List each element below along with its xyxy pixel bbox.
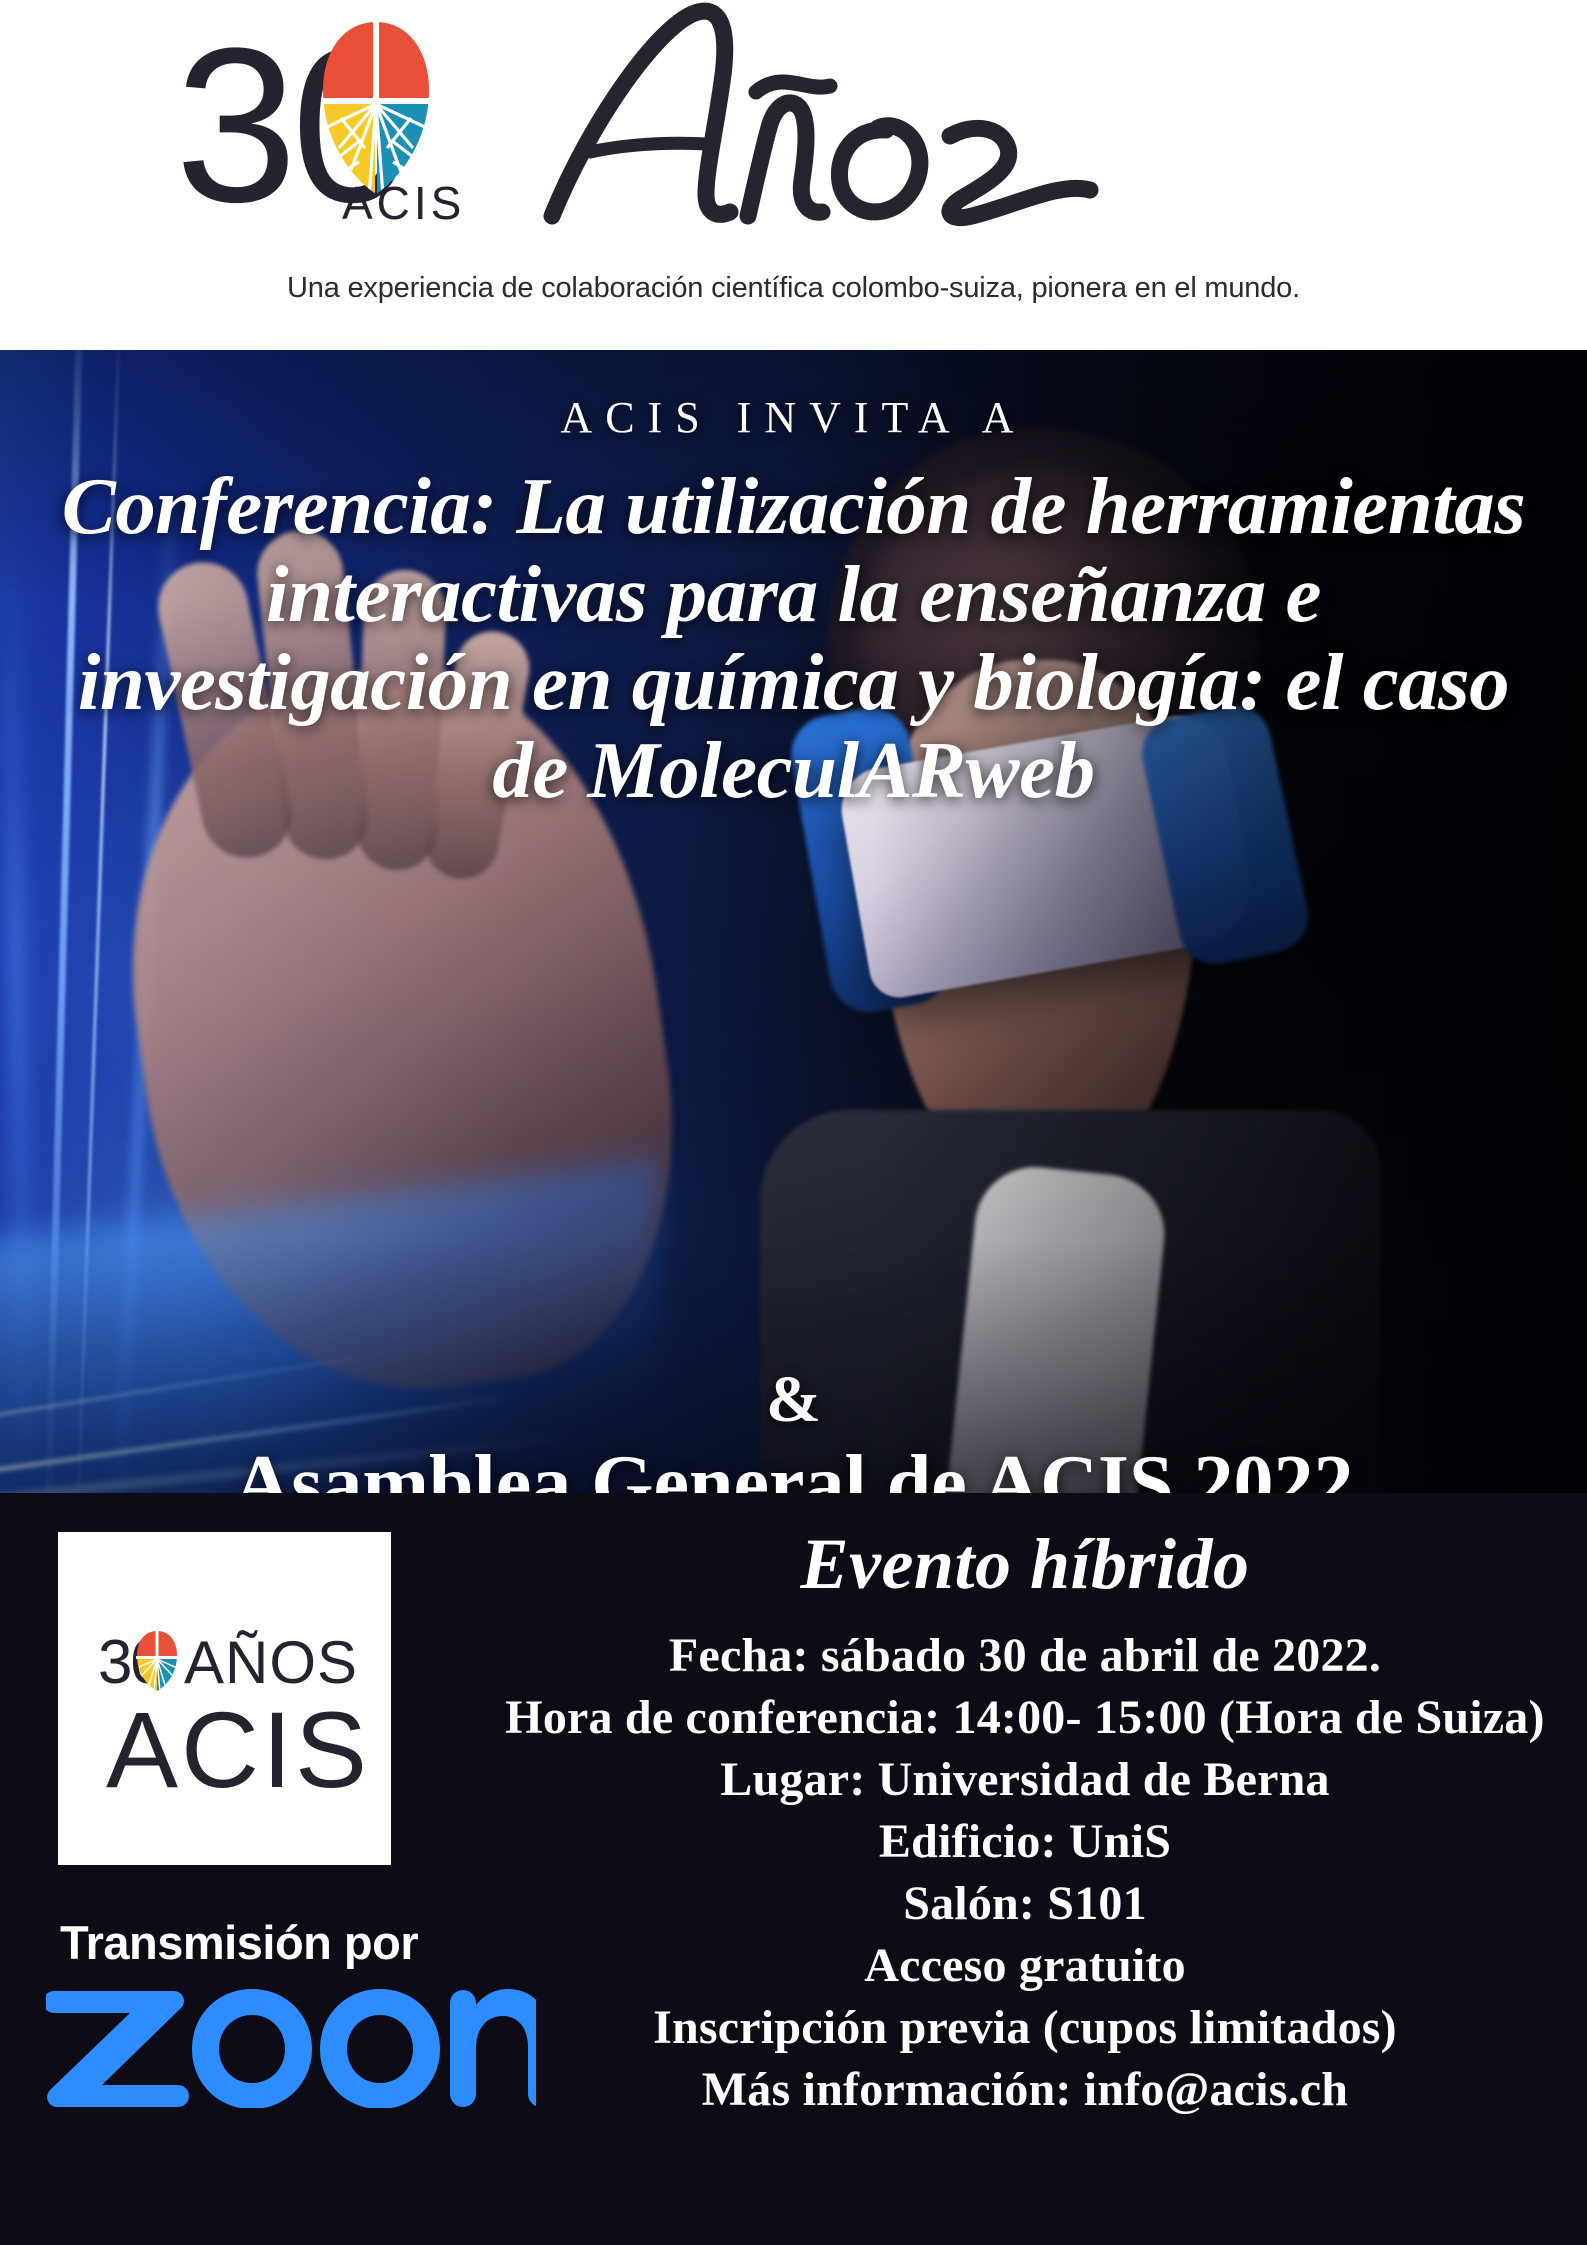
event-type-heading: Evento híbrido: [490, 1521, 1560, 1607]
acis-emblem-icon: [321, 20, 431, 196]
ampersand-separator: &: [0, 1362, 1587, 1438]
info-line-access: Acceso gratuito: [490, 1935, 1560, 1997]
info-line-registration: Inscripción previa (cupos limitados): [490, 1997, 1560, 2059]
info-line-contact: Más información: info@acis.ch: [490, 2059, 1560, 2121]
event-info-block: Evento híbrido Fecha: sábado 30 de abril…: [490, 1521, 1560, 2121]
info-line-building: Edificio: UniS: [490, 1811, 1560, 1873]
poster-footer: 30: [0, 1493, 1587, 2245]
info-line-date: Fecha: sábado 30 de abril de 2022.: [490, 1625, 1560, 1687]
info-line-room: Salón: S101: [490, 1873, 1560, 1935]
hero-kicker: ACIS INVITA A: [0, 392, 1587, 443]
anos-script-logo: [530, 2, 1290, 232]
poster-header: 30 ACIS: [0, 0, 1587, 350]
info-line-place: Lugar: Universidad de Berna: [490, 1749, 1560, 1811]
assembly-title: Asamblea General de ACIS 2022: [60, 1440, 1527, 1493]
hero-text-block: ACIS INVITA A Conferencia: La utilizació…: [0, 350, 1587, 1493]
brand-tagline: Una experiencia de colaboración científi…: [0, 272, 1587, 305]
badge-anos-label: AÑOS: [184, 1632, 358, 1694]
info-line-time: Hora de conferencia: 14:00- 15:00 (Hora …: [490, 1687, 1560, 1749]
conference-title: Conferencia: La utilización de herramien…: [60, 462, 1527, 814]
zoom-logo-icon: [46, 1973, 536, 2108]
acis-30-anos-badge: 30: [58, 1532, 391, 1865]
badge-emblem-icon: [136, 1630, 178, 1692]
acis-30-anos-logo: 30 ACIS: [175, 8, 1295, 238]
hero-banner: ACIS INVITA A Conferencia: La utilizació…: [0, 350, 1587, 1493]
badge-acis-wordmark: ACIS: [106, 1690, 370, 1810]
